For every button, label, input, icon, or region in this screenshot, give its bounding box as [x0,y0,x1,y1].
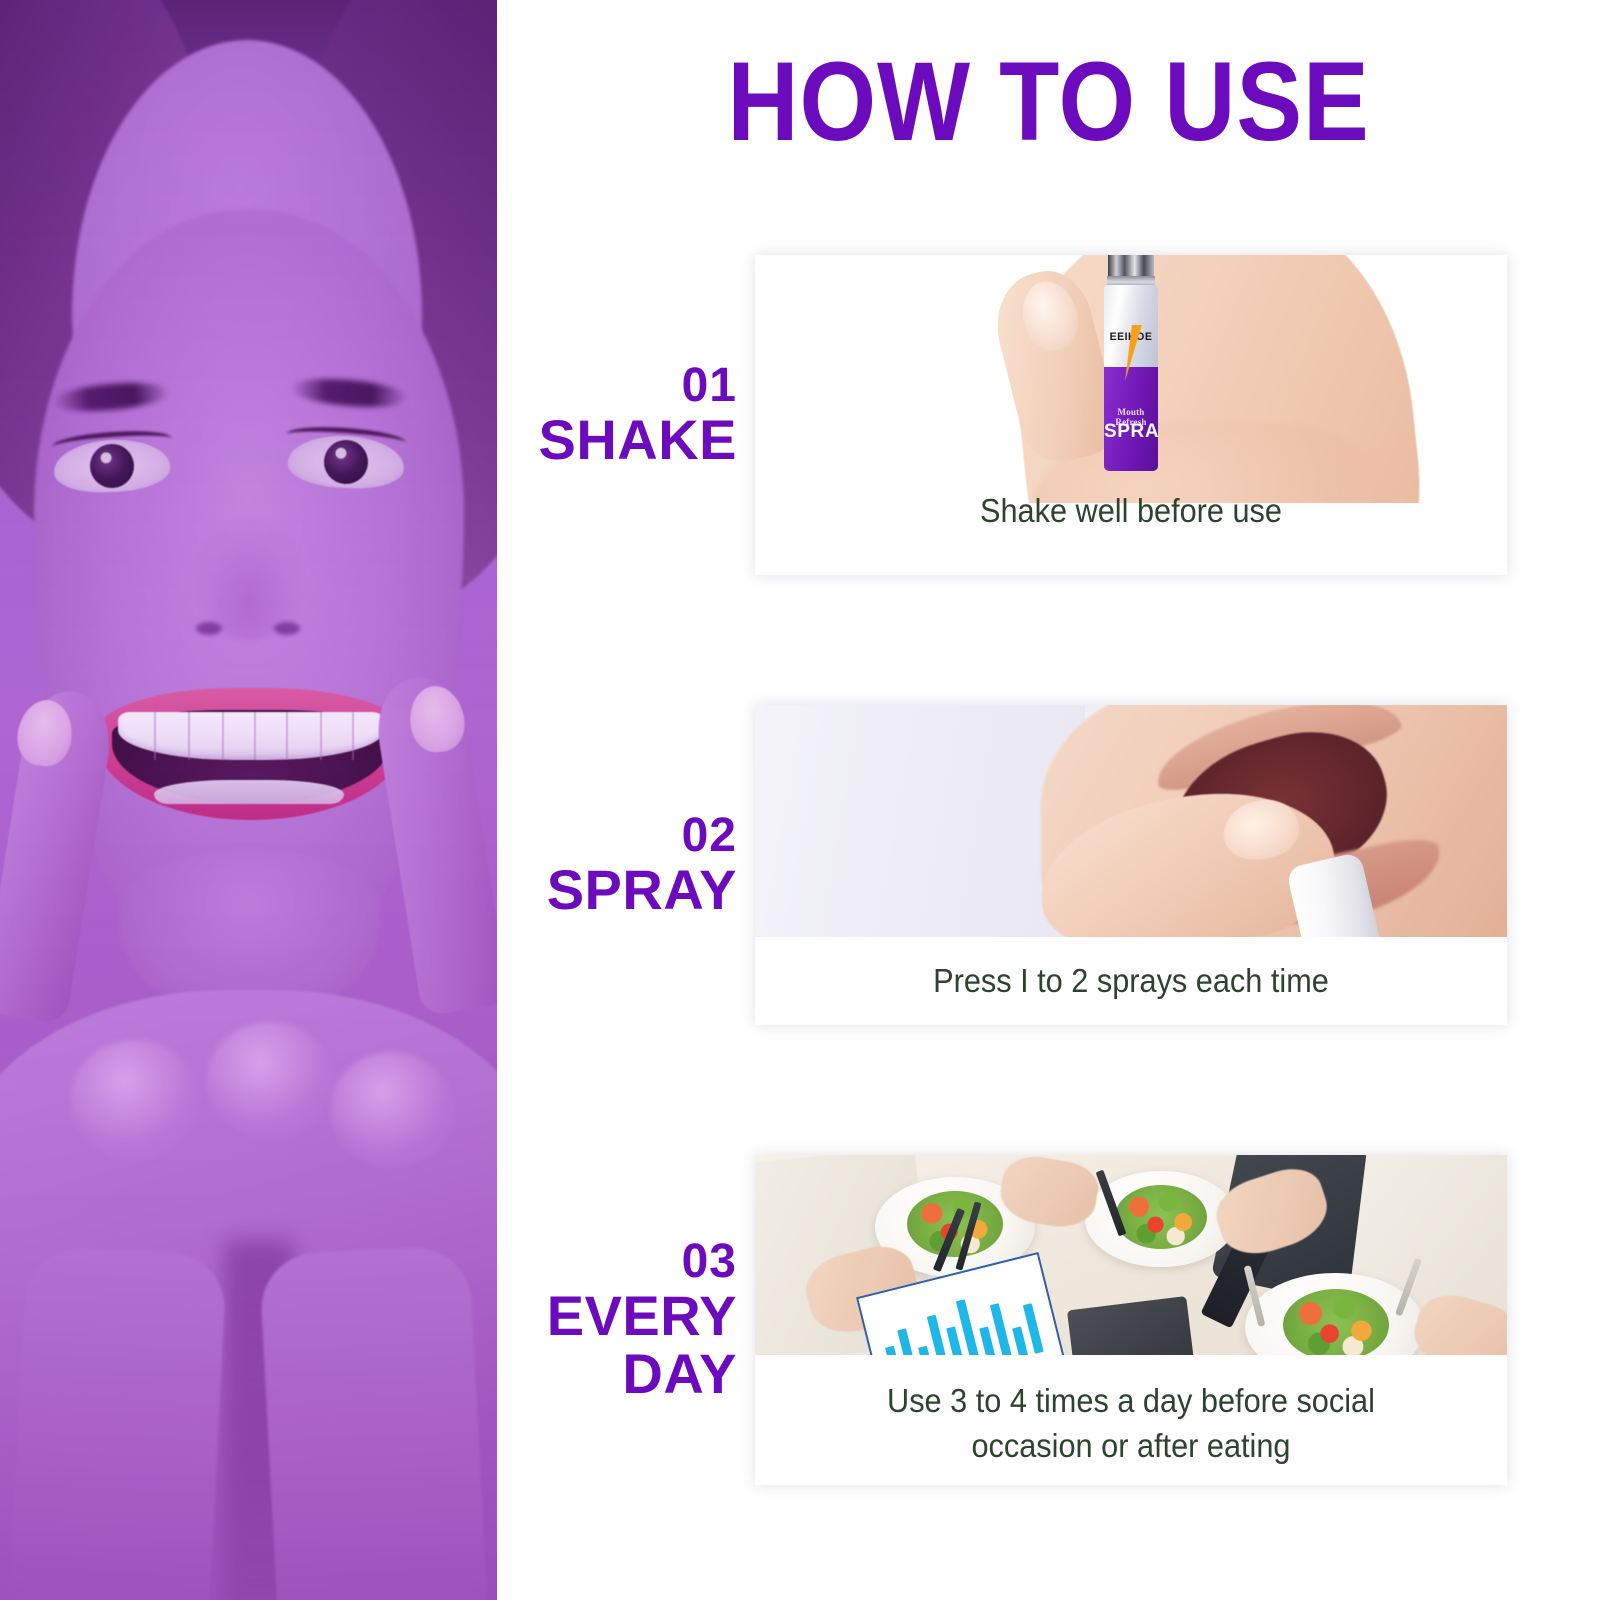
knuckle-three [330,1052,454,1168]
bottle-cap [1108,255,1154,277]
step-card-03: Use 3 to 4 times a day before social occ… [755,1155,1507,1485]
step-number-01: 01 [497,361,737,411]
step-card-02: Press I to 2 sprays each time [755,705,1507,1025]
bottle-lower-label: Mouth Refresh SPRAY [1104,367,1158,471]
salad-three [1283,1289,1389,1355]
spray-bottle: EEIHOE Mouth Refresh SPRAY [1100,255,1162,471]
forearm-right [259,1245,488,1600]
nostril-left [196,622,222,635]
how-to-use-infographic: HOW TO USE 01 SHAKE EEIHOE [0,0,1600,1600]
step-word-01: SHAKE [497,411,737,469]
step-number-02: 02 [497,811,737,861]
knuckle-one [70,1040,200,1160]
step-number-03: 03 [497,1237,737,1287]
step-photo-01: EEIHOE Mouth Refresh SPRAY [755,255,1507,503]
step-card-01: EEIHOE Mouth Refresh SPRAY Shake well be… [755,255,1507,575]
step-label-02: 02 SPRAY [497,811,755,919]
step-photo-02 [755,705,1507,937]
step-row-02: 02 SPRAY Press I to 2 sprays each time [497,705,1600,1025]
knuckle-two [206,1022,334,1140]
nostril-right [274,622,300,635]
step-caption-01: Shake well before use [781,475,1480,547]
photo-pale-area [755,705,1085,937]
step-caption-02: Press I to 2 sprays each time [781,937,1480,1025]
hero-photo-smiling-woman [0,0,497,1600]
step-label-01: 01 SHAKE [497,361,755,469]
hero-scene [0,0,497,1600]
step-caption-03: Use 3 to 4 times a day before social occ… [781,1355,1480,1485]
step-word-03b: DAY [497,1345,737,1403]
step-row-03: 03 EVERY DAY [497,1155,1600,1485]
step-photo-03 [755,1155,1507,1355]
bottle-product-name-text: SPRAY [1104,421,1158,443]
step-label-03: 03 EVERY DAY [497,1237,755,1403]
forearm-left [9,1245,228,1600]
step-caption-03-line1: Use 3 to 4 times a day before social [781,1379,1480,1424]
salad-two [1115,1185,1207,1249]
page-title: HOW TO USE [563,46,1534,158]
step-caption-03-line2: occasion or after eating [781,1424,1480,1469]
step-word-02: SPRAY [497,861,737,919]
lower-teeth [154,780,344,804]
step-row-01: 01 SHAKE EEIHOE Mouth Refresh [497,255,1600,575]
step-word-03: EVERY [497,1287,737,1345]
